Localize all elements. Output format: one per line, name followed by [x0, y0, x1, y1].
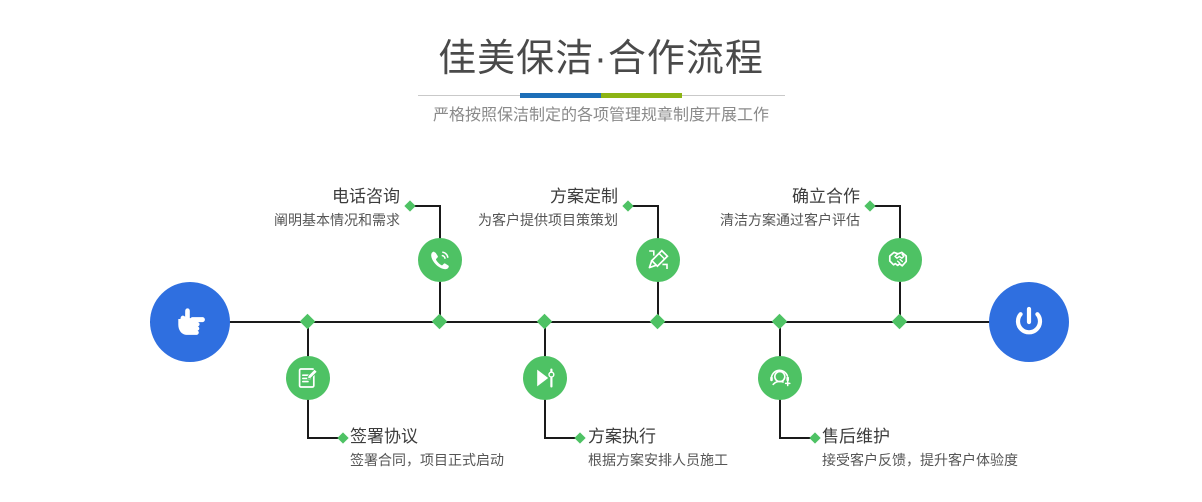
pointing-hand-icon	[168, 300, 212, 344]
divider-segment-blue	[520, 93, 601, 98]
step-1-axis-marker	[432, 314, 448, 330]
step-6-icon-node[interactable]	[758, 356, 802, 400]
page-subtitle: 严格按照保洁制定的各项管理规章制度开展工作	[0, 104, 1202, 128]
step-4-axis-marker	[537, 314, 553, 330]
step-1-label: 电话咨询 阐明基本情况和需求	[150, 186, 400, 231]
step-5-icon-node[interactable]	[878, 238, 922, 282]
pencil-ruler-icon	[645, 247, 671, 273]
step-3-desc: 为客户提供项目策策划	[370, 210, 618, 231]
step-2-icon-node[interactable]	[286, 356, 330, 400]
step-4-title: 方案执行	[588, 426, 848, 448]
divider-segment-green	[601, 93, 682, 98]
document-edit-icon	[295, 365, 321, 391]
step-5-connector-horizontal	[872, 205, 900, 207]
headset-support-icon	[767, 365, 793, 391]
step-4-label: 方案执行 根据方案安排人员施工	[588, 426, 848, 471]
page-title: 佳美保洁·合作流程	[0, 36, 1202, 82]
step-6-axis-marker	[772, 314, 788, 330]
step-5-label: 确立合作 清洁方案通过客户评估	[620, 186, 860, 231]
step-3-axis-marker	[650, 314, 666, 330]
step-2-label-marker	[337, 432, 348, 443]
step-5-label-marker	[864, 200, 875, 211]
flow-diagram-page: 佳美保洁·合作流程 严格按照保洁制定的各项管理规章制度开展工作	[0, 0, 1202, 502]
step-4-desc: 根据方案安排人员施工	[588, 450, 848, 471]
step-3-title: 方案定制	[370, 186, 618, 208]
play-execute-icon	[532, 365, 558, 391]
step-5-axis-marker	[892, 314, 908, 330]
step-2-axis-marker	[300, 314, 316, 330]
step-1-title: 电话咨询	[150, 186, 400, 208]
step-2-title: 签署协议	[350, 426, 610, 448]
step-2-desc: 签署合同，项目正式启动	[350, 450, 610, 471]
step-2-label: 签署协议 签署合同，项目正式启动	[350, 426, 610, 471]
step-4-icon-node[interactable]	[523, 356, 567, 400]
step-3-label: 方案定制 为客户提供项目策策划	[370, 186, 618, 231]
timeline-start-node[interactable]	[150, 282, 230, 362]
timeline-axis	[150, 321, 1055, 323]
step-5-desc: 清洁方案通过客户评估	[620, 210, 860, 231]
step-3-icon-node[interactable]	[636, 238, 680, 282]
handshake-icon	[887, 247, 913, 273]
title-divider	[0, 92, 1202, 100]
power-button-icon	[1007, 300, 1051, 344]
step-6-desc: 接受客户反馈，提升客户体验度	[822, 450, 1122, 471]
page-header: 佳美保洁·合作流程 严格按照保洁制定的各项管理规章制度开展工作	[0, 0, 1202, 140]
phone-call-icon	[427, 247, 453, 273]
step-6-label: 售后维护 接受客户反馈，提升客户体验度	[822, 426, 1122, 471]
step-5-title: 确立合作	[620, 186, 860, 208]
step-6-title: 售后维护	[822, 426, 1122, 448]
timeline-end-node[interactable]	[989, 282, 1069, 362]
step-1-icon-node[interactable]	[418, 238, 462, 282]
step-1-desc: 阐明基本情况和需求	[150, 210, 400, 231]
